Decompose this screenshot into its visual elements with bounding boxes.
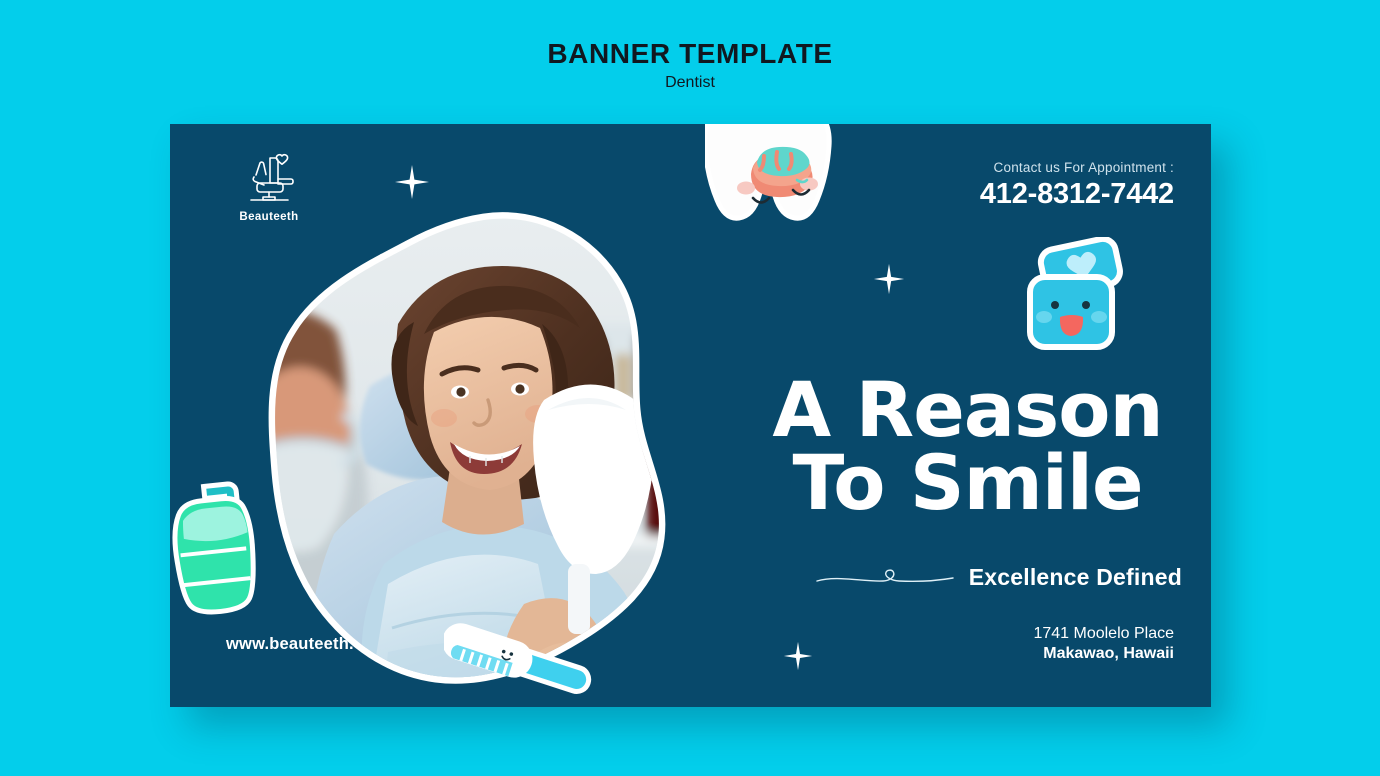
dental-chair-icon xyxy=(238,152,300,204)
tagline-row: Excellence Defined xyxy=(770,562,1182,592)
swirl-divider-icon xyxy=(815,562,955,592)
sparkle-icon xyxy=(873,263,905,300)
contact-phone[interactable]: 412-8312-7442 xyxy=(980,179,1174,209)
page-title: BANNER TEMPLATE xyxy=(0,38,1380,70)
headline-line-2: To Smile xyxy=(755,447,1180,520)
toothbrush-icon xyxy=(444,621,594,707)
page-subtitle: Dentist xyxy=(0,74,1380,92)
sparkle-icon xyxy=(783,641,813,676)
tooth-character-icon xyxy=(705,124,840,246)
address-line-1: 1741 Moolelo Place xyxy=(1033,624,1174,644)
sparkle-icon xyxy=(394,164,430,205)
contact-label: Contact us For Appointment : xyxy=(980,160,1174,175)
mouthwash-bottle-icon xyxy=(170,478,266,623)
floss-box-character-icon xyxy=(1016,237,1134,360)
page-header: BANNER TEMPLATE Dentist xyxy=(0,0,1380,92)
address-line-2: Makawao, Hawaii xyxy=(1033,644,1174,664)
headline: A Reason To Smile xyxy=(755,374,1180,520)
banner-card: Beauteeth Contact us For Appointment : 4… xyxy=(170,124,1211,707)
contact-block: Contact us For Appointment : 412-8312-74… xyxy=(980,160,1174,209)
address-block: 1741 Moolelo Place Makawao, Hawaii xyxy=(1033,624,1174,665)
tagline-text: Excellence Defined xyxy=(969,564,1182,591)
